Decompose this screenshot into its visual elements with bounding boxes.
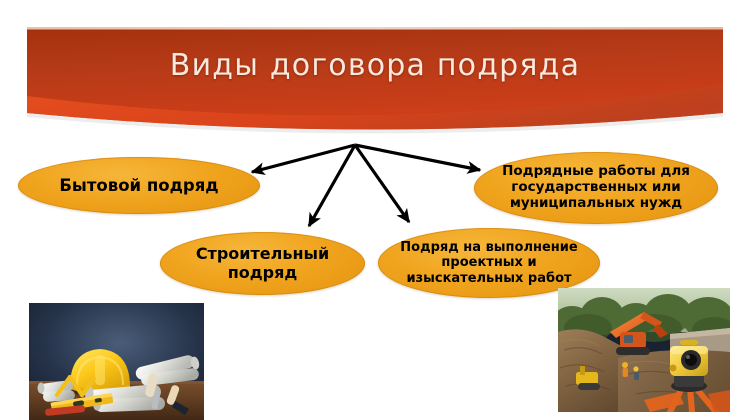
site-illustration bbox=[558, 288, 730, 412]
node-gosudarstvennye-nuzhdy[interactable]: Подрядные работы для государственных или… bbox=[474, 152, 718, 224]
construction-tools-photo bbox=[29, 303, 204, 420]
node-bytovoy-podryad[interactable]: Бытовой подряд bbox=[18, 157, 260, 214]
excavation-site-photo bbox=[558, 288, 730, 412]
slide-canvas: Виды договора подряда Бытовой подряд Под… bbox=[0, 0, 750, 420]
banner-top-hairline bbox=[27, 27, 723, 30]
node-stroitelnyy-label: Строительный подряд bbox=[160, 245, 365, 283]
tools-illustration bbox=[29, 303, 204, 420]
node-proektnye-label: Подряд на выполнение проектных и изыскат… bbox=[378, 240, 600, 286]
arrow-to-stroitelnyy bbox=[309, 145, 355, 226]
node-bytovoy-label: Бытовой подряд bbox=[49, 176, 228, 195]
node-stroitelnyy-podryad[interactable]: Строительный подряд bbox=[160, 232, 365, 295]
arrow-to-proektnye bbox=[355, 145, 409, 222]
node-gosudarstvennye-label: Подрядные работы для государственных или… bbox=[474, 164, 718, 212]
header-banner: Виды договора подряда bbox=[0, 0, 750, 150]
page-title: Виды договора подряда bbox=[27, 48, 723, 83]
